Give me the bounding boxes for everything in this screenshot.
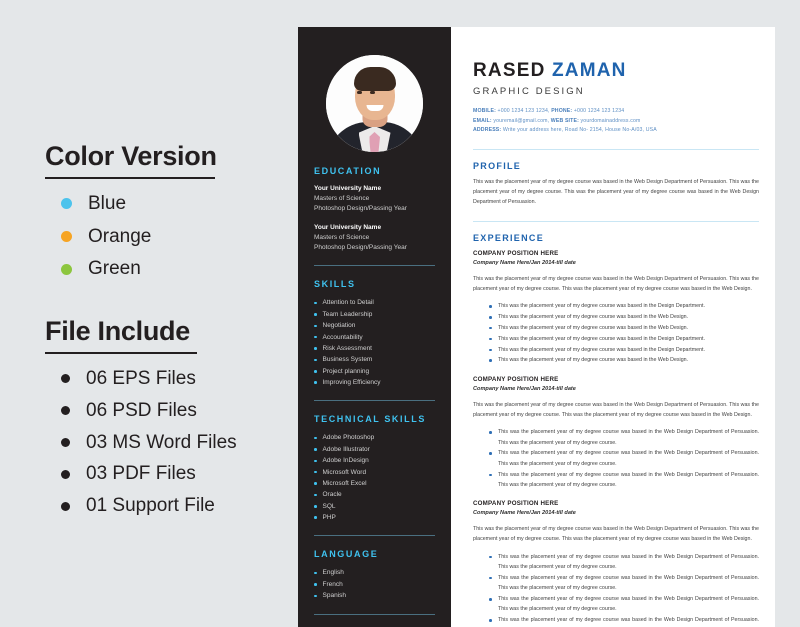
- profile-text: This was the placement year of my degree…: [473, 177, 759, 208]
- bullet-icon: [314, 381, 317, 384]
- list-item: Microsoft Word: [314, 467, 435, 478]
- color-label: Orange: [88, 226, 151, 248]
- experience-summary: This was the placement year of my degree…: [473, 400, 759, 421]
- bullet-icon: [314, 347, 317, 350]
- technical-skills-heading: TECHNICAL SKILLS: [314, 414, 435, 424]
- list-item: This was the placement year of my degree…: [489, 615, 759, 627]
- education-school: Your University Name: [314, 223, 435, 233]
- experience-entry: COMPANY POSITION HERE Company Name Here/…: [473, 375, 759, 490]
- job-title: GRAPHIC DESIGN: [473, 86, 759, 97]
- profile-section: PROFILE This was the placement year of m…: [473, 161, 759, 208]
- technical-skill-label: Adobe Photoshop: [323, 432, 375, 443]
- experience-bullets: This was the placement year of my degree…: [473, 301, 759, 365]
- list-item: Project planning: [314, 366, 435, 377]
- skill-label: Accountability: [323, 332, 363, 343]
- color-label: Blue: [88, 193, 126, 215]
- education-degree: Masters of Science: [314, 194, 435, 204]
- technical-skill-label: PHP: [323, 512, 336, 523]
- education-detail: Photoshop Design/Passing Year: [314, 243, 435, 253]
- bullet-icon: [314, 370, 317, 373]
- technical-skill-label: SQL: [323, 501, 336, 512]
- list-item: This was the placement year of my degree…: [489, 448, 759, 469]
- list-item: Adobe Photoshop: [314, 432, 435, 443]
- language-label: French: [323, 579, 343, 590]
- avatar-wrap: [298, 27, 451, 152]
- sidebar-divider: [314, 535, 435, 536]
- list-item: 06 PSD Files: [61, 400, 298, 422]
- list-item: Accountability: [314, 332, 435, 343]
- address-label: ADDRESS:: [473, 127, 501, 133]
- section-divider: [473, 149, 759, 150]
- resume-name: RASED ZAMAN: [473, 61, 759, 82]
- skill-label: Attention to Detail: [323, 297, 374, 308]
- portrait-eye-right: [370, 91, 375, 94]
- list-item: Risk Assessment: [314, 343, 435, 354]
- list-item: Negotiation: [314, 320, 435, 331]
- list-item: Spanish: [314, 590, 435, 601]
- sidebar-divider: [314, 265, 435, 266]
- experience-entry: COMPANY POSITION HERE Company Name Here/…: [473, 249, 759, 366]
- list-item: French: [314, 579, 435, 590]
- list-item: This was the placement year of my degree…: [489, 552, 759, 573]
- bullet-icon: [314, 572, 317, 575]
- bullet-icon: [314, 471, 317, 474]
- sidebar-gap: [298, 152, 451, 166]
- phone-label: PHONE:: [551, 108, 572, 114]
- skill-label: Negotiation: [323, 320, 356, 331]
- resume-preview: EDUCATION Your University Name Masters o…: [298, 27, 775, 627]
- education-detail: Photoshop Design/Passing Year: [314, 204, 435, 214]
- promo-panel: Color Version Blue Orange Green File Inc…: [0, 0, 298, 627]
- list-item: Attention to Detail: [314, 297, 435, 308]
- bullet-icon: [314, 482, 317, 485]
- list-item: SQL: [314, 501, 435, 512]
- bullet-icon: [314, 505, 317, 508]
- technical-skill-label: Microsoft Excel: [323, 478, 367, 489]
- file-label: 06 EPS Files: [86, 368, 196, 390]
- color-swatch-orange: [61, 231, 72, 242]
- portrait-hair: [354, 67, 396, 91]
- contact-line-address: ADDRESS: Write your address here, Road N…: [473, 126, 759, 136]
- experience-bullets: This was the placement year of my degree…: [473, 427, 759, 490]
- list-item: Green: [61, 258, 298, 280]
- sidebar-section-technical-skills: TECHNICAL SKILLS Adobe Photoshop Adobe I…: [298, 414, 451, 523]
- bullet-icon: [61, 406, 70, 415]
- technical-skill-label: Oracle: [323, 489, 342, 500]
- bullet-icon: [314, 448, 317, 451]
- email-label: EMAIL:: [473, 118, 492, 124]
- website-label: WEB SITE:: [551, 118, 579, 124]
- bullet-icon: [314, 359, 317, 362]
- portrait-eye-left: [357, 91, 362, 94]
- bullet-icon: [314, 325, 317, 328]
- experience-summary: This was the placement year of my degree…: [473, 274, 759, 295]
- list-item: Business System: [314, 354, 435, 365]
- color-swatch-blue: [61, 198, 72, 209]
- phone-value: +000 1234 123 1234: [574, 108, 624, 114]
- list-item: Team Leadership: [314, 309, 435, 320]
- list-item: Microsoft Excel: [314, 478, 435, 489]
- list-item: 03 MS Word Files: [61, 432, 298, 454]
- promo-spacer: [45, 291, 298, 317]
- file-label: 03 MS Word Files: [86, 432, 237, 454]
- mobile-value: +000 1234 123 1234,: [498, 108, 550, 114]
- file-include-heading: File Include: [45, 317, 190, 347]
- website-value: yourdomainaddress.com: [581, 118, 641, 124]
- sidebar-section-skills: SKILLS Attention to Detail Team Leadersh…: [298, 279, 451, 388]
- language-label: Spanish: [323, 590, 347, 601]
- technical-skill-label: Adobe Illustrator: [323, 444, 370, 455]
- language-heading: LANGUAGE: [314, 549, 435, 559]
- bullet-icon: [61, 374, 70, 383]
- list-item: This was the placement year of my degree…: [489, 355, 759, 365]
- experience-entry: COMPANY POSITION HERE Company Name Here/…: [473, 499, 759, 627]
- first-name: RASED: [473, 60, 546, 81]
- list-item: This was the placement year of my degree…: [489, 312, 759, 322]
- education-entry: Your University Name Masters of Science …: [314, 223, 435, 253]
- experience-heading: EXPERIENCE: [473, 233, 759, 243]
- avatar: [326, 55, 423, 152]
- bullet-icon: [61, 470, 70, 479]
- list-item: Orange: [61, 226, 298, 248]
- email-value: youremail@gmail.com,: [493, 118, 549, 124]
- list-item: This was the placement year of my degree…: [489, 334, 759, 344]
- list-item: This was the placement year of my degree…: [489, 594, 759, 615]
- color-label: Green: [88, 258, 141, 280]
- education-entry: Your University Name Masters of Science …: [314, 184, 435, 214]
- skill-label: Risk Assessment: [323, 343, 373, 354]
- list-item: 03 PDF Files: [61, 463, 298, 485]
- list-item: Improving Efficiency: [314, 377, 435, 388]
- file-include-list: 06 EPS Files 06 PSD Files 03 MS Word Fil…: [45, 368, 298, 517]
- list-item: This was the placement year of my degree…: [489, 301, 759, 311]
- contact-line-email: EMAIL: youremail@gmail.com, WEB SITE: yo…: [473, 117, 759, 127]
- experience-position: COMPANY POSITION HERE: [473, 499, 759, 509]
- file-include-underline: [45, 352, 197, 354]
- resume-main: RASED ZAMAN GRAPHIC DESIGN MOBILE: +000 …: [451, 27, 775, 627]
- file-label: 03 PDF Files: [86, 463, 196, 485]
- color-swatch-green: [61, 264, 72, 275]
- section-divider: [473, 221, 759, 222]
- experience-summary: This was the placement year of my degree…: [473, 524, 759, 545]
- bullet-icon: [314, 494, 317, 497]
- technical-skill-label: Adobe InDesign: [323, 455, 369, 466]
- experience-position: COMPANY POSITION HERE: [473, 249, 759, 259]
- list-item: Adobe Illustrator: [314, 444, 435, 455]
- experience-meta: Company Name Here/Jan 2014-till date: [473, 385, 759, 394]
- skill-label: Team Leadership: [323, 309, 373, 320]
- address-value: Write your address here, Road No- 2154, …: [503, 127, 657, 133]
- experience-meta: Company Name Here/Jan 2014-till date: [473, 509, 759, 518]
- last-name: ZAMAN: [552, 60, 627, 81]
- bullet-icon: [314, 313, 317, 316]
- list-item: 06 EPS Files: [61, 368, 298, 390]
- education-school: Your University Name: [314, 184, 435, 194]
- file-include-section: File Include 06 EPS Files 06 PSD Files 0…: [45, 317, 298, 517]
- skills-list: Attention to Detail Team Leadership Nego…: [314, 297, 435, 388]
- bullet-icon: [314, 336, 317, 339]
- bullet-icon: [314, 516, 317, 519]
- list-item: Blue: [61, 193, 298, 215]
- list-item: Adobe InDesign: [314, 455, 435, 466]
- experience-bullets: This was the placement year of my degree…: [473, 552, 759, 627]
- list-item: This was the placement year of my degree…: [489, 573, 759, 594]
- resume-sidebar: EDUCATION Your University Name Masters o…: [298, 27, 451, 627]
- contact-line-mobile: MOBILE: +000 1234 123 1234, PHONE: +000 …: [473, 107, 759, 117]
- skill-label: Project planning: [323, 366, 370, 377]
- sidebar-section-education: EDUCATION Your University Name Masters o…: [298, 166, 451, 253]
- bullet-icon: [61, 438, 70, 447]
- color-version-section: Color Version Blue Orange Green: [45, 142, 298, 280]
- skill-label: Business System: [323, 354, 373, 365]
- bullet-icon: [314, 595, 317, 598]
- list-item: This was the placement year of my degree…: [489, 427, 759, 448]
- bullet-icon: [314, 460, 317, 463]
- technical-skill-label: Microsoft Word: [323, 467, 367, 478]
- skill-label: Improving Efficiency: [323, 377, 381, 388]
- file-label: 01 Support File: [86, 495, 215, 517]
- skills-heading: SKILLS: [314, 279, 435, 289]
- file-label: 06 PSD Files: [86, 400, 197, 422]
- contact-block: MOBILE: +000 1234 123 1234, PHONE: +000 …: [473, 107, 759, 136]
- list-item: 01 Support File: [61, 495, 298, 517]
- list-item: Oracle: [314, 489, 435, 500]
- experience-position: COMPANY POSITION HERE: [473, 375, 759, 385]
- mobile-label: MOBILE:: [473, 108, 496, 114]
- language-label: English: [323, 567, 344, 578]
- list-item: This was the placement year of my degree…: [489, 323, 759, 333]
- sidebar-divider: [314, 614, 435, 615]
- color-version-list: Blue Orange Green: [45, 193, 298, 281]
- bullet-icon: [61, 502, 70, 511]
- list-item: PHP: [314, 512, 435, 523]
- bullet-icon: [314, 437, 317, 440]
- bullet-icon: [314, 583, 317, 586]
- experience-section: EXPERIENCE COMPANY POSITION HERE Company…: [473, 233, 759, 627]
- education-degree: Masters of Science: [314, 233, 435, 243]
- profile-heading: PROFILE: [473, 161, 759, 171]
- language-list: English French Spanish: [314, 567, 435, 601]
- sidebar-divider: [314, 400, 435, 401]
- list-item: This was the placement year of my degree…: [489, 470, 759, 491]
- experience-meta: Company Name Here/Jan 2014-till date: [473, 259, 759, 268]
- sidebar-section-language: LANGUAGE English French Spanish: [298, 549, 451, 601]
- list-item: English: [314, 567, 435, 578]
- color-version-underline: [45, 177, 215, 179]
- color-version-heading: Color Version: [45, 142, 217, 172]
- technical-skills-list: Adobe Photoshop Adobe Illustrator Adobe …: [314, 432, 435, 523]
- education-heading: EDUCATION: [314, 166, 435, 176]
- bullet-icon: [314, 302, 317, 305]
- list-item: This was the placement year of my degree…: [489, 345, 759, 355]
